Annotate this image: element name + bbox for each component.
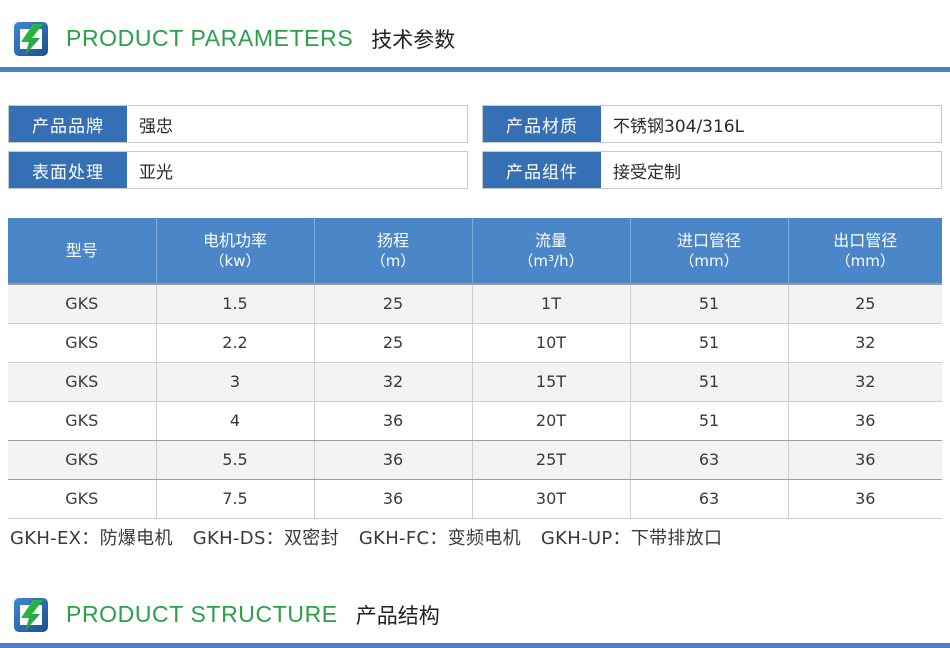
column-header-unit: （m³/h）	[474, 251, 629, 271]
product-info-grid: 产品品牌 强忠 产品材质 不锈钢304/316L 表面处理 亚光 产品组件 接受…	[8, 105, 942, 197]
table-cell: 1.5	[156, 284, 314, 323]
info-row: 产品品牌 强忠 产品材质 不锈钢304/316L	[8, 105, 942, 143]
table-cell: GKS	[8, 401, 156, 440]
bolt-square-logo-icon	[10, 18, 52, 60]
section-header-structure: PRODUCT STRUCTURE 产品结构	[0, 586, 950, 648]
footnote-item: GKH-DS：双密封	[193, 528, 339, 549]
footnote-item: GKH-FC：变频电机	[359, 528, 521, 549]
table-cell: 32	[788, 323, 942, 362]
info-row: 表面处理 亚光 产品组件 接受定制	[8, 151, 942, 189]
table-cell: 36	[788, 440, 942, 479]
table-cell: 20T	[472, 401, 630, 440]
section-header-parameters: PRODUCT PARAMETERS 技术参数	[0, 10, 950, 72]
info-label: 产品材质	[483, 106, 601, 142]
table-cell: 51	[630, 323, 788, 362]
info-box-components: 产品组件 接受定制	[482, 151, 942, 189]
table-cell: GKS	[8, 362, 156, 401]
table-cell: 3	[156, 362, 314, 401]
table-row: GKS43620T5136	[8, 401, 942, 440]
table-cell: 2.2	[156, 323, 314, 362]
footnote-item: GKH-EX：防爆电机	[10, 528, 173, 549]
column-header-name: 进口管径	[677, 231, 741, 250]
info-value: 强忠	[127, 106, 467, 142]
table-cell: 30T	[472, 479, 630, 518]
column-header-name: 型号	[66, 241, 98, 260]
column-header-motor-power: 电机功率 （kw）	[156, 218, 314, 284]
column-header-inlet-diameter: 进口管径 （mm）	[630, 218, 788, 284]
table-cell: 36	[314, 479, 472, 518]
column-header-name: 流量	[535, 231, 567, 250]
info-value: 不锈钢304/316L	[601, 106, 941, 142]
table-cell: 25T	[472, 440, 630, 479]
info-label: 产品品牌	[9, 106, 127, 142]
table-row: GKS5.53625T6336	[8, 440, 942, 479]
info-value: 亚光	[127, 152, 467, 188]
column-header-name: 出口管径	[833, 231, 897, 250]
table-cell: 25	[788, 284, 942, 323]
table-cell: GKS	[8, 323, 156, 362]
column-header-unit: （mm）	[632, 251, 787, 271]
table-footnote: GKH-EX：防爆电机GKH-DS：双密封GKH-FC：变频电机GKH-UP：下…	[10, 524, 944, 550]
table-cell: 1T	[472, 284, 630, 323]
table-cell: GKS	[8, 440, 156, 479]
table-row: GKS1.5251T5125	[8, 284, 942, 323]
table-cell: GKS	[8, 284, 156, 323]
table-body: GKS1.5251T5125GKS2.22510T5132GKS33215T51…	[8, 284, 942, 518]
table-cell: 32	[788, 362, 942, 401]
specification-table: 型号 电机功率 （kw） 扬程 （m） 流量 （m³/h） 进口管径 （m	[8, 218, 942, 519]
product-parameters-page: PRODUCT PARAMETERS 技术参数 产品品牌 强忠 产品材质 不锈钢…	[0, 0, 950, 648]
info-box-material: 产品材质 不锈钢304/316L	[482, 105, 942, 143]
table-cell: 25	[314, 323, 472, 362]
section-title-en: PRODUCT STRUCTURE	[66, 601, 338, 628]
section-title-cn: 产品结构	[356, 600, 440, 630]
column-header-model: 型号	[8, 218, 156, 284]
table-cell: 36	[314, 401, 472, 440]
column-header-name: 扬程	[377, 231, 409, 250]
column-header-flow: 流量 （m³/h）	[472, 218, 630, 284]
table-cell: 10T	[472, 323, 630, 362]
info-label: 表面处理	[9, 152, 127, 188]
info-value: 接受定制	[601, 152, 941, 188]
section-title-en: PRODUCT PARAMETERS	[66, 25, 353, 52]
info-label: 产品组件	[483, 152, 601, 188]
column-header-unit: （mm）	[790, 251, 942, 271]
table-header-row: 型号 电机功率 （kw） 扬程 （m） 流量 （m³/h） 进口管径 （m	[8, 218, 942, 284]
column-header-outlet-diameter: 出口管径 （mm）	[788, 218, 942, 284]
table-cell: 4	[156, 401, 314, 440]
table-cell: 5.5	[156, 440, 314, 479]
table-row: GKS33215T5132	[8, 362, 942, 401]
section-header-parameters-inner: PRODUCT PARAMETERS 技术参数	[10, 10, 455, 67]
table-cell: 36	[788, 479, 942, 518]
info-box-surface-treatment: 表面处理 亚光	[8, 151, 468, 189]
table-row: GKS7.53630T6336	[8, 479, 942, 518]
column-header-unit: （kw）	[158, 251, 313, 271]
section-header-structure-inner: PRODUCT STRUCTURE 产品结构	[10, 586, 440, 643]
info-box-brand: 产品品牌 强忠	[8, 105, 468, 143]
bolt-square-logo-icon	[10, 594, 52, 636]
table-cell: 15T	[472, 362, 630, 401]
table-cell: 51	[630, 362, 788, 401]
section-divider-bar	[0, 67, 950, 72]
column-header-name: 电机功率	[203, 231, 267, 250]
table-cell: 32	[314, 362, 472, 401]
table-row: GKS2.22510T5132	[8, 323, 942, 362]
section-title-cn: 技术参数	[371, 24, 455, 54]
table-cell: 25	[314, 284, 472, 323]
table-cell: 7.5	[156, 479, 314, 518]
table-cell: 51	[630, 284, 788, 323]
column-header-unit: （m）	[316, 251, 471, 271]
column-header-head: 扬程 （m）	[314, 218, 472, 284]
table-cell: 36	[314, 440, 472, 479]
table-cell: GKS	[8, 479, 156, 518]
table-cell: 36	[788, 401, 942, 440]
table-cell: 63	[630, 440, 788, 479]
section-divider-bar	[0, 643, 950, 648]
footnote-item: GKH-UP：下带排放口	[541, 528, 722, 549]
table-cell: 63	[630, 479, 788, 518]
table-cell: 51	[630, 401, 788, 440]
